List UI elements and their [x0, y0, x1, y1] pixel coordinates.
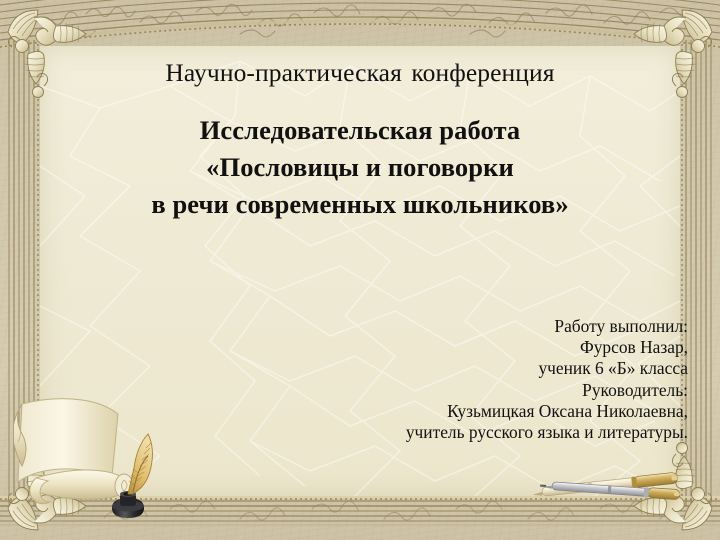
- author-line-supervisor-label: Руководитель:: [268, 380, 688, 401]
- author-line-prepared-by: Работу выполнил:: [268, 316, 688, 337]
- slide-text-content: Научно-практическая конференция Исследов…: [0, 0, 720, 540]
- author-block: Работу выполнил: Фурсов Назар, ученик 6 …: [268, 316, 688, 443]
- research-title: Исследовательская работа «Пословицы и по…: [0, 112, 720, 223]
- title-line-1: Исследовательская работа: [0, 112, 720, 149]
- title-line-3: в речи современных школьников»: [0, 186, 720, 223]
- conference-heading: Научно-практическая конференция: [0, 58, 720, 88]
- author-line-supervisor-role: учитель русского языка и литературы.: [268, 422, 688, 443]
- author-line-student-name: Фурсов Назар,: [268, 337, 688, 358]
- author-line-class: ученик 6 «Б» класса: [268, 358, 688, 379]
- title-block: Научно-практическая конференция Исследов…: [0, 58, 720, 223]
- title-line-2: «Пословицы и поговорки: [0, 149, 720, 186]
- presentation-slide: Научно-практическая конференция Исследов…: [0, 0, 720, 540]
- author-line-supervisor-name: Кузьмицкая Оксана Николаевна,: [268, 401, 688, 422]
